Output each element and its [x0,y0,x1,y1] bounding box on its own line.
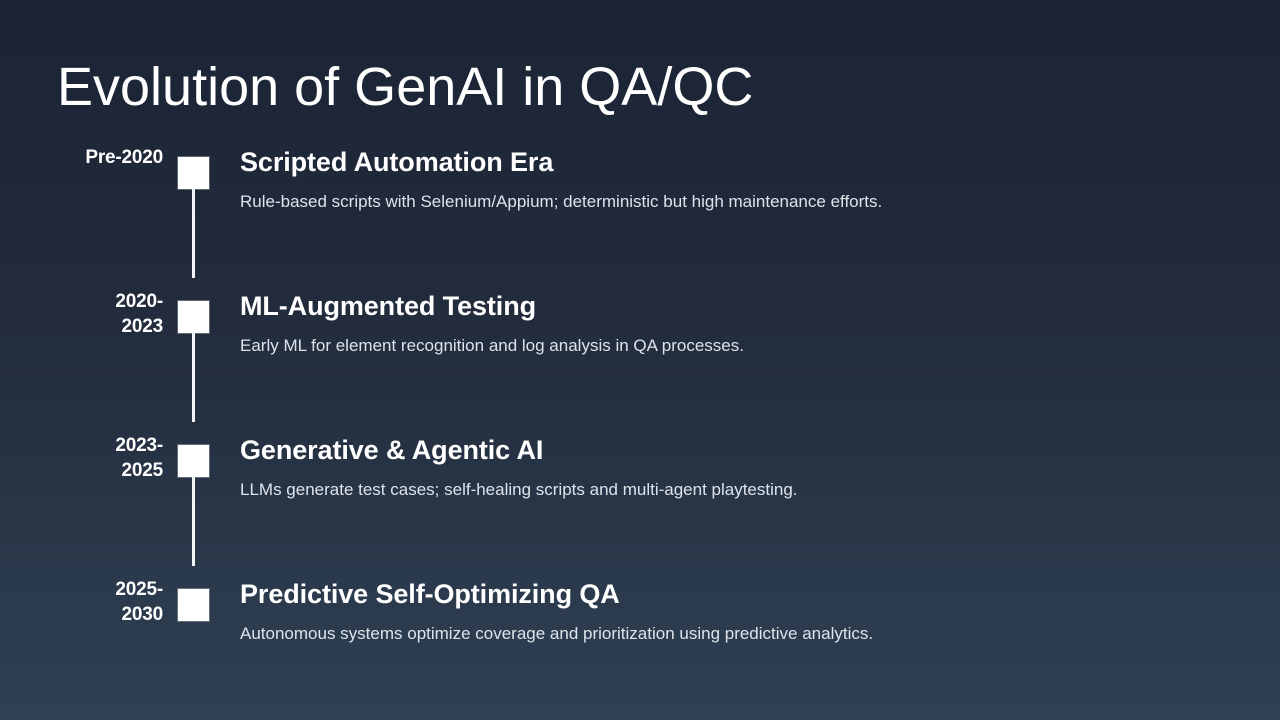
square-marker-icon [178,445,209,477]
timeline-item: 2020- 2023 ML-Augmented Testing Early ML… [0,289,1280,433]
timeline-item-body: Generative & Agentic AI LLMs generate te… [240,433,1250,501]
timeline-item-body: Scripted Automation Era Rule-based scrip… [240,145,1250,213]
timeline-connector-line [192,477,195,566]
square-marker-icon [178,157,209,189]
timeline-item-description: LLMs generate test cases; self-healing s… [240,479,1250,501]
timeline-item-heading: Predictive Self-Optimizing QA [240,579,1250,611]
timeline-marker-column [178,577,209,720]
timeline-marker-column [178,433,209,577]
timeline-item-date: 2025- 2030 [30,577,163,627]
timeline-item-heading: Scripted Automation Era [240,147,1250,179]
timeline: Pre-2020 Scripted Automation Era Rule-ba… [0,145,1280,677]
square-marker-icon [178,589,209,621]
timeline-item-date-line1: Pre-2020 [85,147,163,168]
timeline-item-date-line2: 2030 [122,604,163,625]
timeline-item-date-line1: 2020- [115,291,163,312]
timeline-connector-line [192,333,195,422]
timeline-item-description: Autonomous systems optimize coverage and… [240,623,1250,645]
timeline-item: Pre-2020 Scripted Automation Era Rule-ba… [0,145,1280,289]
timeline-connector-line [192,189,195,278]
slide-canvas: Evolution of GenAI in QA/QC Pre-2020 Scr… [0,0,1280,720]
timeline-marker-column [178,289,209,433]
timeline-item-date-line1: 2025- [115,579,163,600]
timeline-item-date: 2023- 2025 [30,433,163,483]
timeline-item-date-line2: 2023 [122,316,163,337]
timeline-item-date-line1: 2023- [115,435,163,456]
timeline-item: 2025- 2030 Predictive Self-Optimizing QA… [0,577,1280,677]
timeline-item-description: Early ML for element recognition and log… [240,335,1250,357]
timeline-item-date: Pre-2020 [30,145,163,170]
square-marker-icon [178,301,209,333]
timeline-marker-column [178,145,209,289]
timeline-item-body: Predictive Self-Optimizing QA Autonomous… [240,577,1250,645]
timeline-item-date-line2: 2025 [122,460,163,481]
timeline-item-description: Rule-based scripts with Selenium/Appium;… [240,191,1250,213]
timeline-item-heading: ML-Augmented Testing [240,291,1250,323]
timeline-item-heading: Generative & Agentic AI [240,435,1250,467]
timeline-item-body: ML-Augmented Testing Early ML for elemen… [240,289,1250,357]
timeline-item: 2023- 2025 Generative & Agentic AI LLMs … [0,433,1280,577]
page-title: Evolution of GenAI in QA/QC [57,57,753,117]
timeline-item-date: 2020- 2023 [30,289,163,339]
